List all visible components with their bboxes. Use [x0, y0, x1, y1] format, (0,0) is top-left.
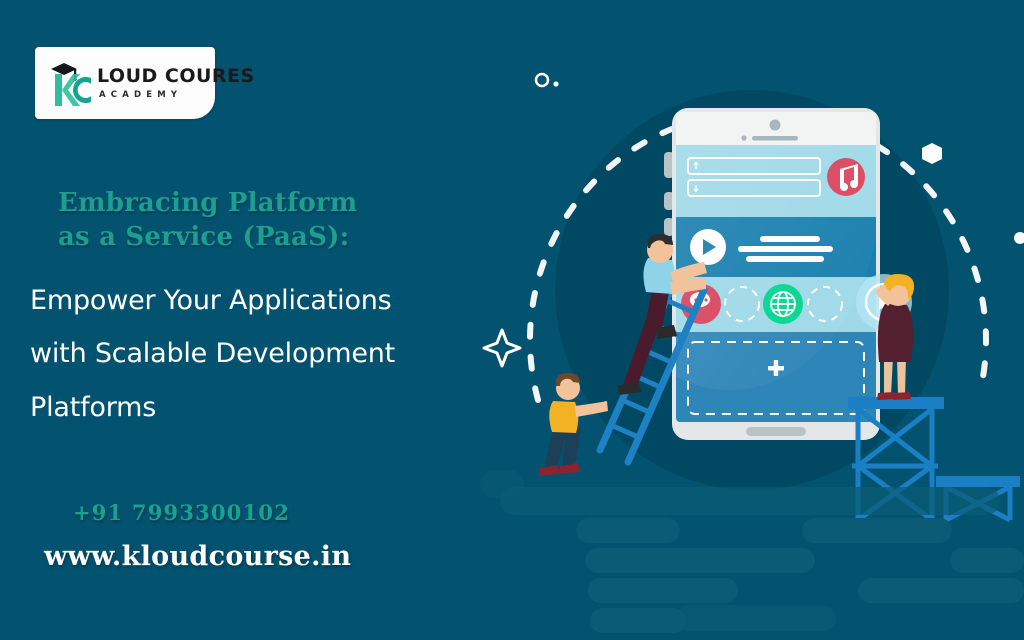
small-circle-dot-decoration [536, 74, 559, 87]
headline-line-2: as a Service (PaaS): [58, 220, 488, 254]
headline: Embracing Platform as a Service (PaaS): [58, 186, 488, 255]
kc-monogram-icon [47, 58, 95, 108]
headline-line-1: Embracing Platform [58, 186, 488, 220]
subheading-line-3: Platforms [30, 381, 500, 434]
contact-website[interactable]: www.kloudcourse.in [44, 541, 351, 572]
banner-canvas: LOUD COURES ACADEMY Embracing Platform a… [0, 0, 1024, 640]
hexagon-decoration [922, 143, 942, 164]
subheading-line-2: with Scalable Development [30, 327, 500, 380]
dot-decoration [1014, 232, 1024, 244]
sparkle-star-icon [484, 330, 520, 366]
home-indicator [746, 427, 806, 436]
contact-phone[interactable]: +91 7993300102 [73, 500, 290, 525]
subheading: Empower Your Applications with Scalable … [30, 274, 500, 434]
subheading-line-1: Empower Your Applications [30, 274, 500, 327]
logo[interactable]: LOUD COURES ACADEMY [35, 47, 215, 119]
ground-bars [480, 470, 1024, 633]
logo-main-text: LOUD COURES [97, 67, 255, 86]
logo-sub-text: ACADEMY [99, 91, 255, 100]
paas-illustration [480, 0, 1024, 640]
